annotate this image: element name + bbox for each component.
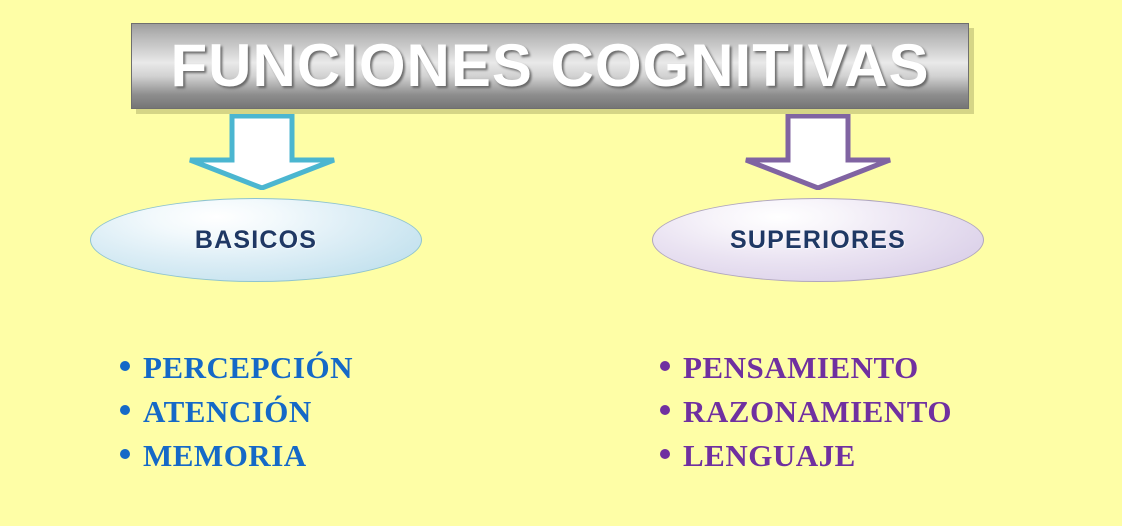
list-item: LENGUAJE [660,438,952,482]
list-item-label: MEMORIA [143,438,307,474]
bullet-list-superiores: PENSAMIENTO RAZONAMIENTO LENGUAJE [660,350,952,482]
page-title: FUNCIONES COGNITIVAS [171,35,930,97]
down-arrow-icon-superiores [744,114,892,190]
bullet-dot-icon [120,361,130,371]
list-item: ATENCIÓN [120,394,353,438]
category-ellipse-basicos: BASICOS [90,198,422,282]
list-item-label: LENGUAJE [683,438,856,474]
list-item: RAZONAMIENTO [660,394,952,438]
list-item: PENSAMIENTO [660,350,952,394]
list-item-label: PENSAMIENTO [683,350,919,386]
list-item-label: RAZONAMIENTO [683,394,952,430]
bullet-dot-icon [120,449,130,459]
category-label-basicos: BASICOS [195,226,317,255]
list-item-label: ATENCIÓN [143,394,312,430]
bullet-dot-icon [120,405,130,415]
down-arrow-icon-basicos [188,114,336,190]
category-ellipse-superiores: SUPERIORES [652,198,984,282]
bullet-dot-icon [660,449,670,459]
list-item: MEMORIA [120,438,353,482]
list-item-label: PERCEPCIÓN [143,350,353,386]
category-label-superiores: SUPERIORES [730,226,906,255]
bullet-dot-icon [660,405,670,415]
title-banner: FUNCIONES COGNITIVAS [131,23,969,109]
bullet-dot-icon [660,361,670,371]
slide-canvas: FUNCIONES COGNITIVAS BASICOS SUPERIORES … [0,0,1122,526]
bullet-list-basicos: PERCEPCIÓN ATENCIÓN MEMORIA [120,350,353,482]
list-item: PERCEPCIÓN [120,350,353,394]
